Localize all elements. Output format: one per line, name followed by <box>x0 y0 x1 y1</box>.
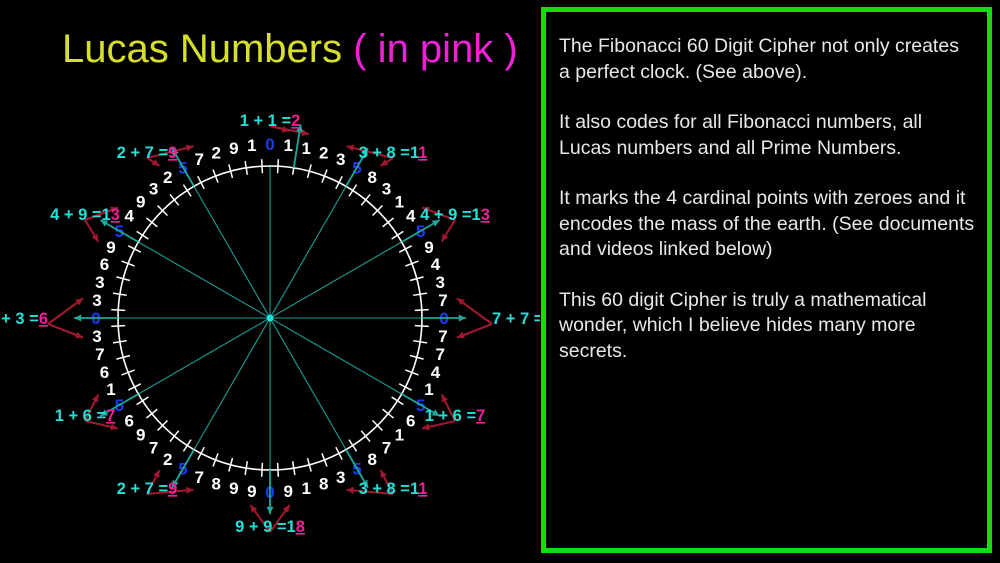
equation-label-lower-left: 2 + 7 =9 <box>117 480 178 498</box>
equation-label-left-upper: 4 + 9 =13 <box>50 206 120 224</box>
dial-digit: 7 <box>95 345 104 364</box>
dial-digit: 3 <box>149 180 158 199</box>
info-panel: The Fibonacci 60 Digit Cipher not only c… <box>541 7 992 553</box>
equation-sum-tens: 1 <box>287 518 296 536</box>
equation-sum-digit: 3 <box>111 206 120 224</box>
equation-operands: 1 + 6 = <box>425 407 476 425</box>
equation-sum-digit: 6 <box>39 310 48 328</box>
dial-digit: 6 <box>100 255 109 274</box>
equation-operands: 1 + 1 = <box>240 112 291 130</box>
equation-operands: 3 + 8 = <box>359 480 410 498</box>
dial-digit: 6 <box>406 411 415 430</box>
dial-digit: 9 <box>229 139 238 158</box>
equation-operands: 4 + 9 = <box>420 206 471 224</box>
label-arrow-teal-head <box>267 507 274 514</box>
dial-digit: 1 <box>395 425 404 444</box>
dial-digit: 1 <box>424 380 433 399</box>
equation-label-right-lower: 1 + 6 =7 <box>425 407 486 425</box>
equation-sum-digit: 1 <box>418 480 427 498</box>
dial-digit: 2 <box>163 168 172 187</box>
equation-operands: 1 + 6 = <box>55 407 106 425</box>
dial-digit: 7 <box>438 327 447 346</box>
label-arrow-head <box>186 487 193 494</box>
title-main-text: Lucas Numbers <box>62 27 342 71</box>
dial-digit: 1 <box>301 479 310 498</box>
dial-digit: 8 <box>211 474 220 493</box>
equation-sum-digit: 7 <box>106 407 115 425</box>
equation-sum-digit: 3 <box>481 206 490 224</box>
dial-digit: 3 <box>382 180 391 199</box>
dial-digit: 4 <box>406 207 416 226</box>
panel-paragraph-1: The Fibonacci 60 Digit Cipher not only c… <box>559 34 975 85</box>
dial-digit: 3 <box>95 273 104 292</box>
equation-sum-digit: 2 <box>291 112 300 130</box>
info-panel-text: The Fibonacci 60 Digit Cipher not only c… <box>559 34 975 364</box>
equation-sum-digit: 1 <box>418 144 427 162</box>
dial-digit: 8 <box>368 450 377 469</box>
equation-sum-tens: 1 <box>472 206 481 224</box>
dial-digit: 4 <box>124 207 134 226</box>
clock-dial-svg: 0112358314594370774156178538190998752796… <box>0 85 540 563</box>
equation-label-left: 3 + 3 =6 <box>0 310 48 328</box>
dial-digit: 7 <box>435 345 444 364</box>
label-arrow-head <box>301 129 309 136</box>
equation-label-right: 7 + 7 =14 <box>492 310 540 328</box>
equation-operands: 2 + 7 = <box>117 144 168 162</box>
equation-sum-digit: 7 <box>476 407 485 425</box>
equation-operands: 7 + 7 = <box>492 310 540 328</box>
equation-label-right-upper: 4 + 9 =13 <box>420 206 490 224</box>
equation-label-bottom: 9 + 9 =18 <box>235 518 305 536</box>
dial-digit: 9 <box>229 479 238 498</box>
dial-digit: 2 <box>211 144 220 163</box>
dial-digit: 6 <box>124 411 133 430</box>
dial-digit: 3 <box>92 291 101 310</box>
equation-operands: 9 + 9 = <box>235 518 286 536</box>
dial-digit: 4 <box>431 255 441 274</box>
dial-digit: 2 <box>163 450 172 469</box>
dial-digit: 6 <box>100 363 109 382</box>
dial-digit: 9 <box>106 238 115 257</box>
dial-digit: 7 <box>194 150 203 169</box>
dial-digit: 9 <box>247 482 256 501</box>
dial-digit: 0 <box>265 135 274 154</box>
label-arrow-head <box>346 487 353 494</box>
fibonacci-cipher-clock-diagram: 0112358314594370774156178538190998752796… <box>0 85 540 563</box>
equation-label-upper-left: 2 + 7 =9 <box>117 144 178 162</box>
dial-digit: 9 <box>136 193 145 212</box>
dial-digit: 7 <box>382 438 391 457</box>
equation-sum-digit: 9 <box>168 144 177 162</box>
dial-digit: 1 <box>106 380 115 399</box>
slide-root: Lucas Numbers ( in pink ) 01123583145943… <box>0 0 1000 563</box>
dial-digit: 3 <box>336 468 345 487</box>
equation-operands: 4 + 9 = <box>50 206 101 224</box>
title-sub-text: ( in pink ) <box>353 27 518 71</box>
label-arrow-teal-head <box>459 315 466 322</box>
label-arrow-teal-head <box>74 315 81 322</box>
dial-digit: 7 <box>438 291 447 310</box>
dial-digit: 3 <box>92 327 101 346</box>
dial-digit: 9 <box>283 482 292 501</box>
dial-digit: 9 <box>136 425 145 444</box>
panel-paragraph-3: It marks the 4 cardinal points with zero… <box>559 186 975 263</box>
equation-operands: 3 + 3 = <box>0 310 39 328</box>
page-title: Lucas Numbers ( in pink ) <box>62 27 518 72</box>
dial-digit: 7 <box>149 438 158 457</box>
equation-label-top: 1 + 1 =2 <box>240 112 301 130</box>
equation-sum-tens: 1 <box>102 206 111 224</box>
equation-sum-digit: 9 <box>168 480 177 498</box>
panel-paragraph-2: It also codes for all Fibonacci numbers,… <box>559 110 975 161</box>
center-hub <box>267 315 274 322</box>
dial-digit: 1 <box>247 136 256 155</box>
equation-operands: 2 + 7 = <box>117 480 168 498</box>
equation-label-upper-right: 3 + 8 =11 <box>359 144 428 162</box>
dial-digit: 3 <box>435 273 444 292</box>
dial-digit: 2 <box>319 144 328 163</box>
dial-digit: 1 <box>283 136 292 155</box>
equation-operands: 3 + 8 = <box>359 144 410 162</box>
dial-digit: 3 <box>336 150 345 169</box>
dial-digit: 7 <box>194 468 203 487</box>
dial-digit: 1 <box>301 139 310 158</box>
panel-paragraph-4: This 60 digit Cipher is truly a mathemat… <box>559 288 975 365</box>
dial-digit: 1 <box>395 193 404 212</box>
dial-digit: 8 <box>368 168 377 187</box>
equation-sum-digit: 8 <box>296 518 305 536</box>
equation-label-lower-right: 3 + 8 =11 <box>359 480 428 498</box>
dial-digit: 8 <box>319 474 328 493</box>
equation-label-left-lower: 1 + 6 =7 <box>55 407 116 425</box>
